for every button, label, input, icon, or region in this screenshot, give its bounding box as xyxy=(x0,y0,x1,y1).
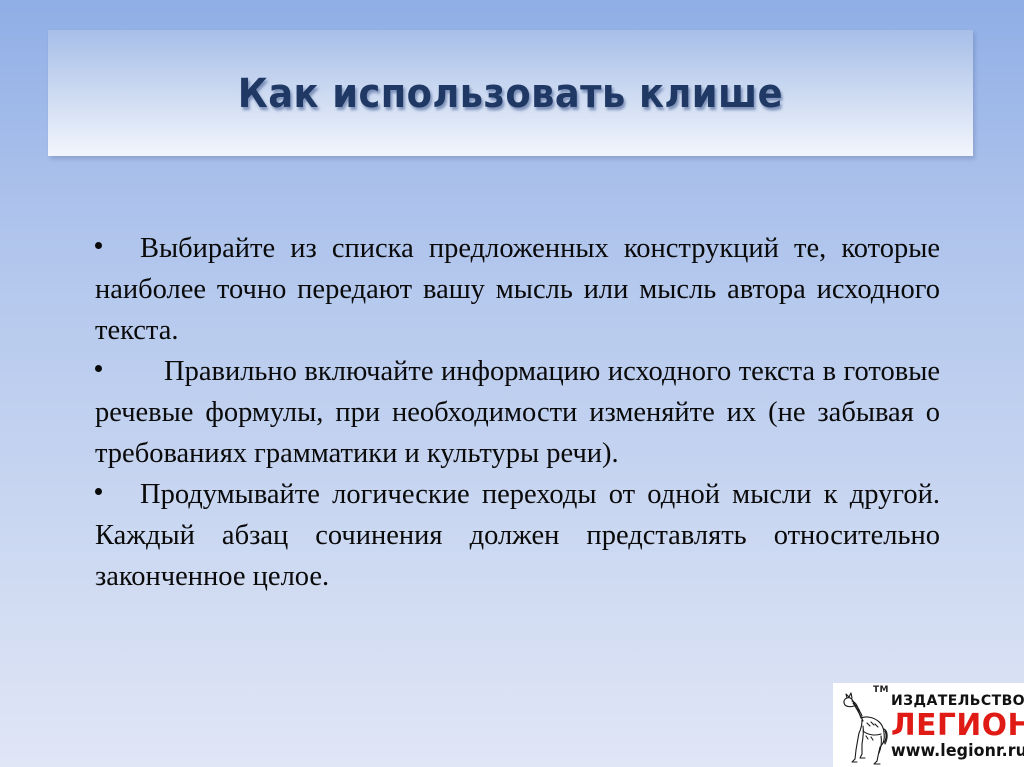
list-item: Продумывайте логические переходы от одно… xyxy=(95,474,940,597)
logo-website-url: www.legionr.ru xyxy=(891,741,1019,760)
bullet-icon xyxy=(95,365,102,372)
bullet-list: Выбирайте из списка предложенных констру… xyxy=(95,228,940,597)
bullet-icon xyxy=(95,488,102,495)
list-item-text: Правильно включайте информацию исходного… xyxy=(95,356,940,469)
list-item: Выбирайте из списка предложенных констру… xyxy=(95,228,940,351)
publisher-logo: ТМ ИЗДАТЕЛЬСТВО ЛЕГИОН www.legionr.ru xyxy=(833,683,1024,767)
bullet-icon xyxy=(95,242,102,249)
horse-icon: ТМ xyxy=(833,683,891,767)
slide-canvas: Как использовать клише Выбирайте из спис… xyxy=(0,0,1024,767)
title-plate: Как использовать клише xyxy=(48,30,973,156)
list-item-text: Продумывайте логические переходы от одно… xyxy=(95,479,940,592)
logo-brand-name: ЛЕГИОН xyxy=(891,710,1023,741)
list-item-text: Выбирайте из списка предложенных констру… xyxy=(95,233,940,346)
list-item: Правильно включайте информацию исходного… xyxy=(95,351,940,474)
logo-wordmark: ИЗДАТЕЛЬСТВО ЛЕГИОН www.legionr.ru xyxy=(891,683,1024,760)
page-title: Как использовать клише xyxy=(238,71,783,117)
trademark-label: ТМ xyxy=(873,685,889,695)
